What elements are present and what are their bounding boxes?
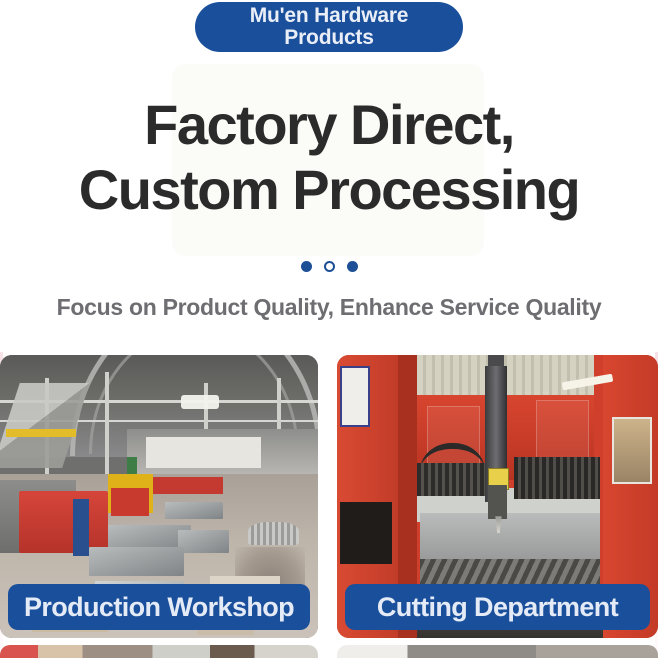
next-photo-right[interactable] [337,645,658,658]
carousel-dot-3[interactable] [347,261,358,272]
photo-card-cutting-department[interactable]: Cutting Department [337,355,658,638]
card-label-production-workshop[interactable]: Production Workshop [8,584,310,630]
card-label-cutting-department[interactable]: Cutting Department [345,584,650,630]
photo-card-production-workshop[interactable]: Production Workshop [0,355,318,638]
brand-badge-label: Mu'en Hardware Products [205,5,453,49]
hero-subtitle: Focus on Product Quality, Enhance Servic… [0,294,658,321]
next-photo-row [0,645,658,658]
carousel-dot-1[interactable] [301,261,312,272]
page-root: Mu'en Hardware Products Factory Direct, … [0,0,658,658]
carousel-dot-2[interactable] [324,261,335,272]
hero-headline: Factory Direct, Custom Processing [0,92,658,222]
card-label-text: Cutting Department [377,592,618,623]
brand-badge[interactable]: Mu'en Hardware Products [195,2,463,52]
photo-card-grid: Production Workshop [0,355,658,658]
next-photo-left[interactable] [0,645,318,658]
hero-banner: Mu'en Hardware Products Factory Direct, … [0,0,658,352]
card-label-text: Production Workshop [24,592,294,623]
carousel-dots[interactable] [0,261,658,272]
